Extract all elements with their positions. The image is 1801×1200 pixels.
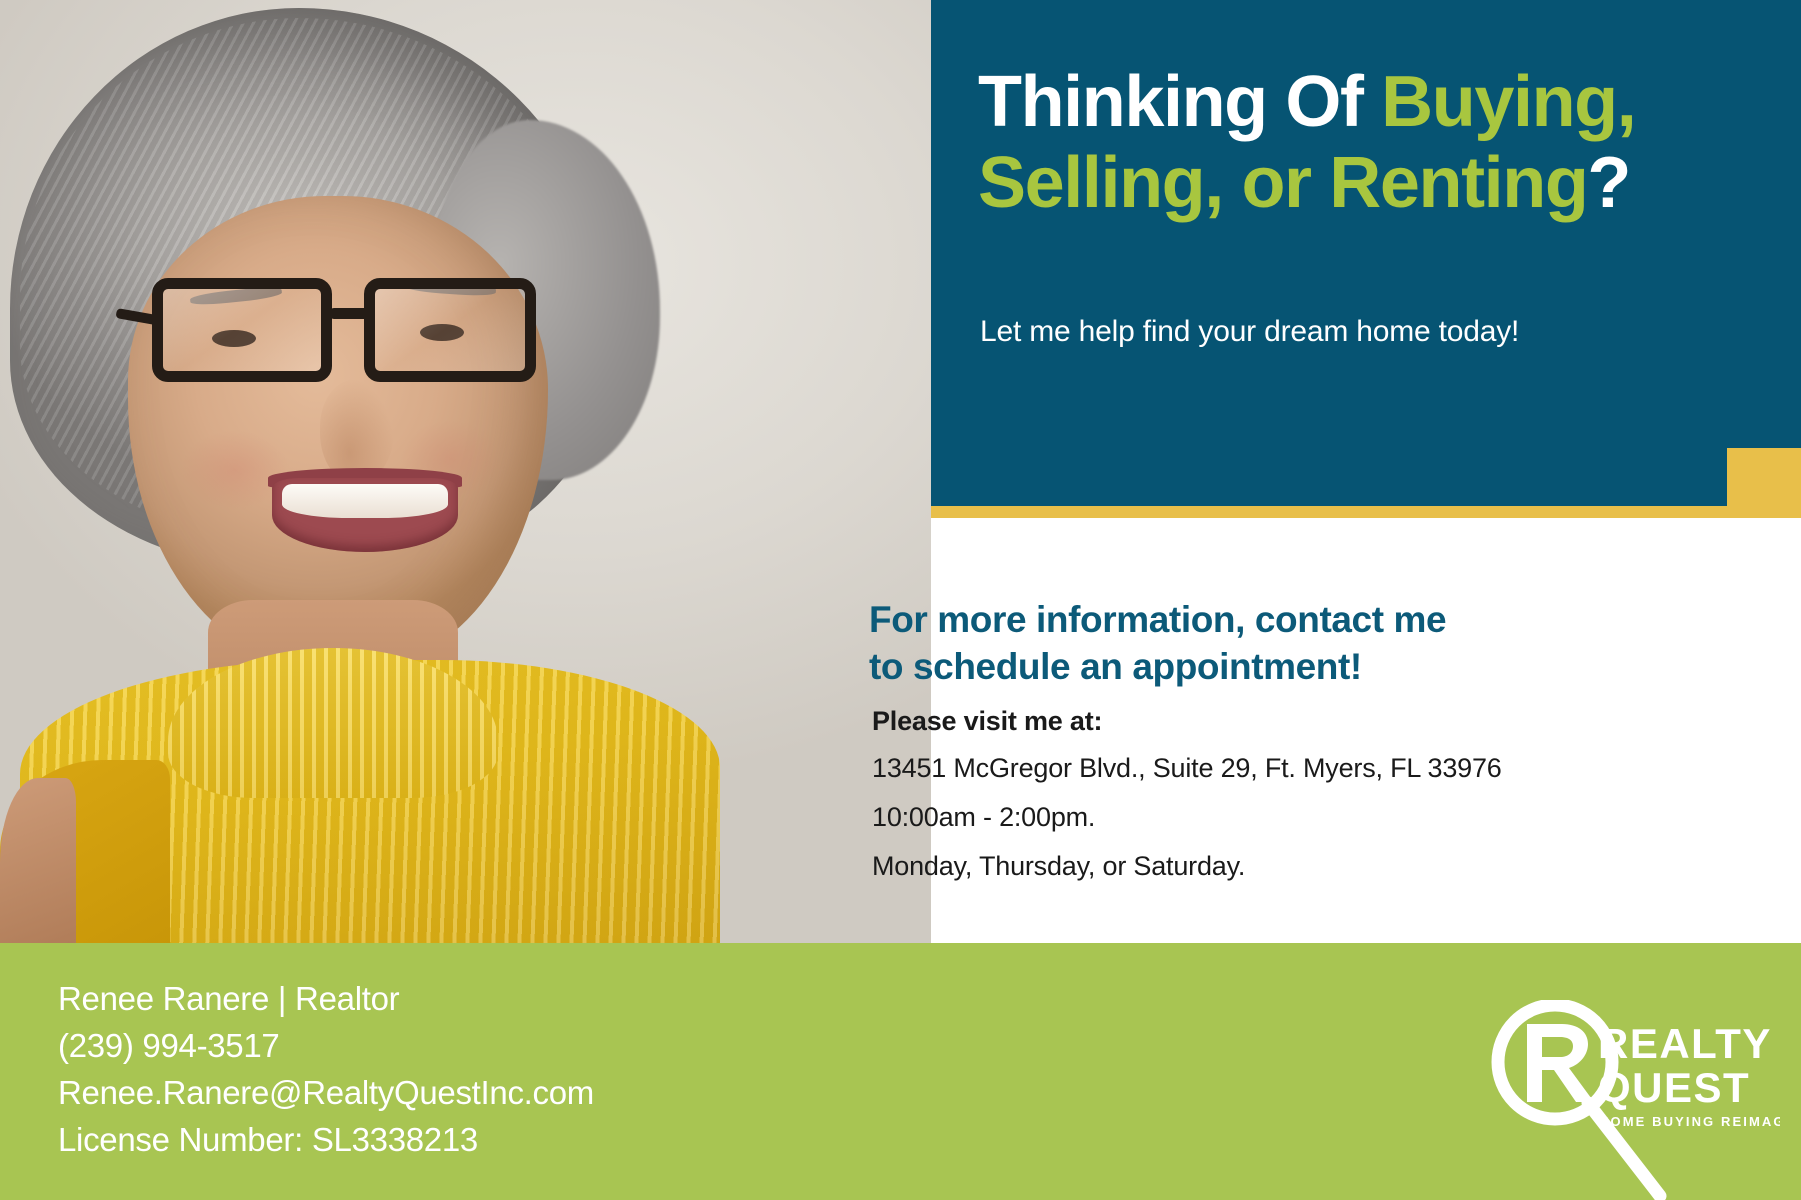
logo-word-quest: QUEST (1598, 1064, 1750, 1111)
agent-photo: Smiling woman with short gray hair, blac… (0, 0, 931, 943)
portrait-illustration (0, 0, 931, 943)
office-hours: 10:00am - 2:00pm. (872, 802, 1632, 833)
contact-heading-line2: to schedule an appointment! (869, 646, 1362, 687)
arm-left (0, 778, 76, 943)
teeth (282, 484, 448, 518)
glasses-lens-left (152, 278, 332, 382)
headline-question-mark: ? (1587, 143, 1630, 223)
accent-block-gold (1727, 448, 1801, 506)
office-days: Monday, Thursday, or Saturday. (872, 851, 1632, 882)
accent-stripe-gold (931, 506, 1801, 518)
agent-contact-block: Renee Ranere | Realtor (239) 994-3517 Re… (58, 976, 594, 1163)
headline: Thinking Of Buying, Selling, or Renting? (978, 62, 1768, 223)
agent-license: License Number: SL3338213 (58, 1117, 594, 1164)
realty-quest-logo: REALTY QUEST HOME BUYING REIMAGINED (1480, 1000, 1780, 1200)
contact-section: For more information, contact me to sche… (931, 518, 1801, 943)
headline-panel: Thinking Of Buying, Selling, or Renting?… (931, 0, 1801, 506)
logo-word-realty: REALTY (1598, 1020, 1772, 1067)
glasses-bridge (330, 308, 368, 319)
glasses-lens-right (364, 278, 536, 382)
headline-part-thinking-of: Thinking Of (978, 62, 1381, 142)
contact-heading-line1: For more information, contact me (869, 599, 1446, 640)
agent-phone[interactable]: (239) 994-3517 (58, 1023, 594, 1070)
office-address: 13451 McGregor Blvd., Suite 29, Ft. Myer… (872, 753, 1632, 784)
agent-name-title: Renee Ranere | Realtor (58, 976, 594, 1023)
contact-heading: For more information, contact me to sche… (869, 596, 1609, 691)
visit-label: Please visit me at: (872, 706, 1102, 737)
logo-tagline: HOME BUYING REIMAGINED (1599, 1114, 1780, 1129)
eyeglasses-icon (150, 272, 568, 400)
headline-part-selling-renting: Selling, or Renting (978, 143, 1587, 223)
flyer-root: Smiling woman with short gray hair, blac… (0, 0, 1801, 1200)
smile-shape (272, 478, 458, 552)
headline-part-buying: Buying, (1381, 62, 1635, 142)
visit-details: 13451 McGregor Blvd., Suite 29, Ft. Myer… (872, 753, 1632, 900)
logo-letter-r (1527, 1024, 1594, 1102)
agent-email[interactable]: Renee.Ranere@RealtyQuestInc.com (58, 1070, 594, 1117)
logo-svg: REALTY QUEST HOME BUYING REIMAGINED (1480, 1000, 1780, 1200)
headline-subtitle: Let me help find your dream home today! (980, 315, 1770, 349)
